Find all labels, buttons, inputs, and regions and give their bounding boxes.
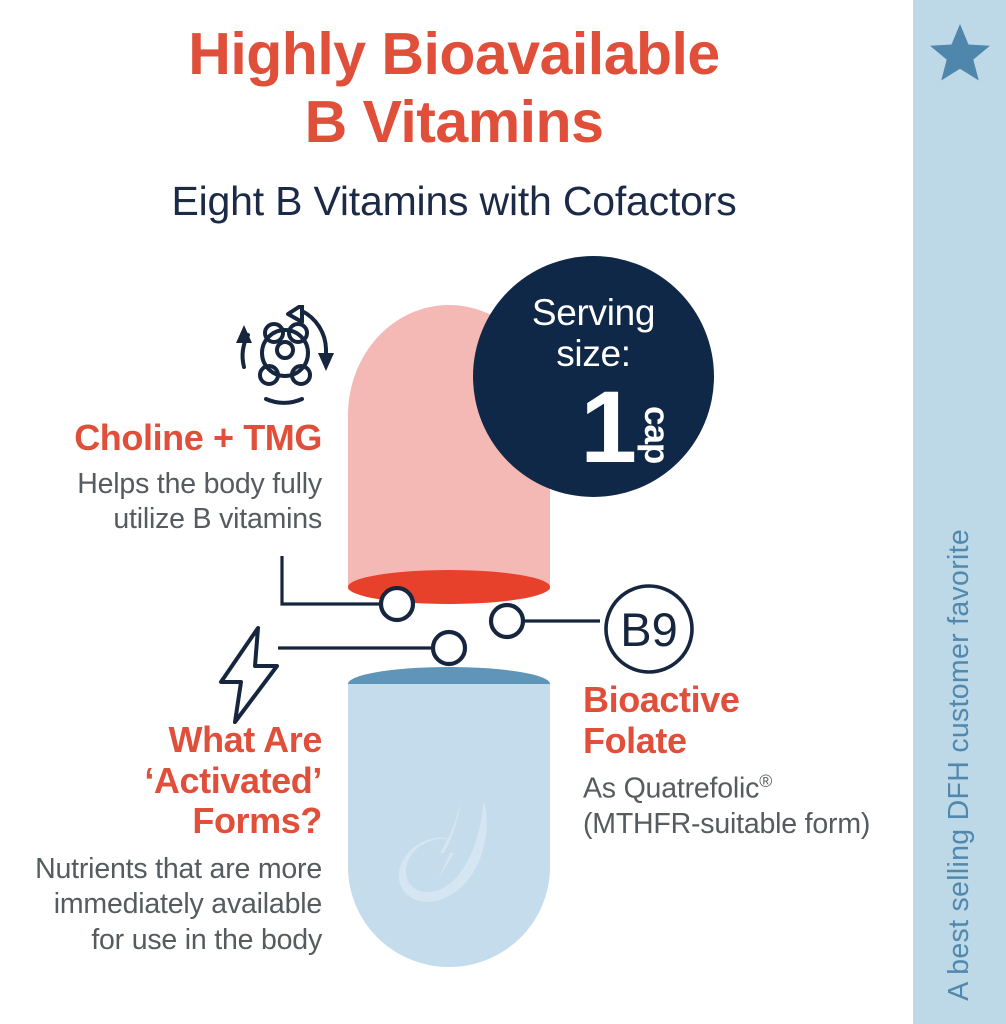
page-subtitle: Eight B Vitamins with Cofactors: [0, 178, 908, 225]
callout-choline-body-line-1: Helps the body fully: [0, 467, 322, 502]
callout-choline-body-line-2: utilize B vitamins: [0, 502, 322, 537]
callout-activated-forms: What Are ‘Activated’ Forms? Nutrients th…: [0, 720, 322, 958]
callout-activated-body-line-3: for use in the body: [0, 923, 322, 958]
serving-size-badge: Serving size: 1 cap: [473, 256, 714, 497]
serving-size-amount: 1: [517, 376, 637, 478]
callout-folate-body-line-1: As Quatrefolic®: [583, 771, 903, 807]
callout-bioactive-folate: Bioactive Folate As Quatrefolic® (MTHFR-…: [583, 680, 903, 843]
side-banner: A best selling DFH customer favorite: [913, 0, 1006, 1024]
callout-activated-body: Nutrients that are more immediately avai…: [0, 852, 322, 958]
star-icon: [929, 22, 991, 84]
callout-folate-body: As Quatrefolic® (MTHFR-suitable form): [583, 771, 903, 842]
title-line-2: B Vitamins: [0, 88, 908, 156]
side-banner-text-wrap: A best selling DFH customer favorite: [913, 96, 1006, 1001]
callout-activated-heading-line-3: Forms?: [0, 801, 322, 842]
page-title: Highly Bioavailable B Vitamins: [0, 20, 908, 157]
callout-folate-heading-line-1: Bioactive: [583, 680, 903, 721]
lightning-bolt-icon: [213, 625, 285, 725]
callout-choline: Choline + TMG Helps the body fully utili…: [0, 418, 322, 537]
infographic-canvas: Highly Bioavailable B Vitamins Eight B V…: [0, 0, 1006, 1024]
callout-folate-body-line-2: (MTHFR-suitable form): [583, 807, 903, 842]
capsule-top-rim: [348, 570, 550, 604]
serving-size-label-line-2: size:: [473, 333, 714, 374]
callout-folate-heading-line-2: Folate: [583, 721, 903, 762]
molecule-cycle-icon: [228, 305, 338, 405]
registered-mark-icon: ®: [759, 771, 772, 791]
side-banner-text: A best selling DFH customer favorite: [943, 525, 976, 1001]
callout-folate-heading: Bioactive Folate: [583, 680, 903, 761]
serving-size-label: Serving size:: [473, 292, 714, 375]
callout-activated-body-line-2: immediately available: [0, 887, 322, 922]
callout-choline-heading: Choline + TMG: [0, 418, 322, 459]
callout-activated-heading-line-2: ‘Activated’: [0, 761, 322, 802]
callout-activated-body-line-1: Nutrients that are more: [0, 852, 322, 887]
callout-folate-brand: As Quatrefolic: [583, 773, 759, 805]
b9-badge-icon: B9: [603, 583, 695, 675]
dfh-logo-watermark: [376, 795, 526, 935]
svg-text:B9: B9: [620, 603, 678, 656]
title-line-1: Highly Bioavailable: [0, 20, 908, 88]
callout-choline-body: Helps the body fully utilize B vitamins: [0, 467, 322, 538]
serving-size-label-line-1: Serving: [473, 292, 714, 333]
callout-activated-heading: What Are ‘Activated’ Forms?: [0, 720, 322, 842]
serving-size-unit: cap: [636, 406, 676, 463]
callout-activated-heading-line-1: What Are: [0, 720, 322, 761]
